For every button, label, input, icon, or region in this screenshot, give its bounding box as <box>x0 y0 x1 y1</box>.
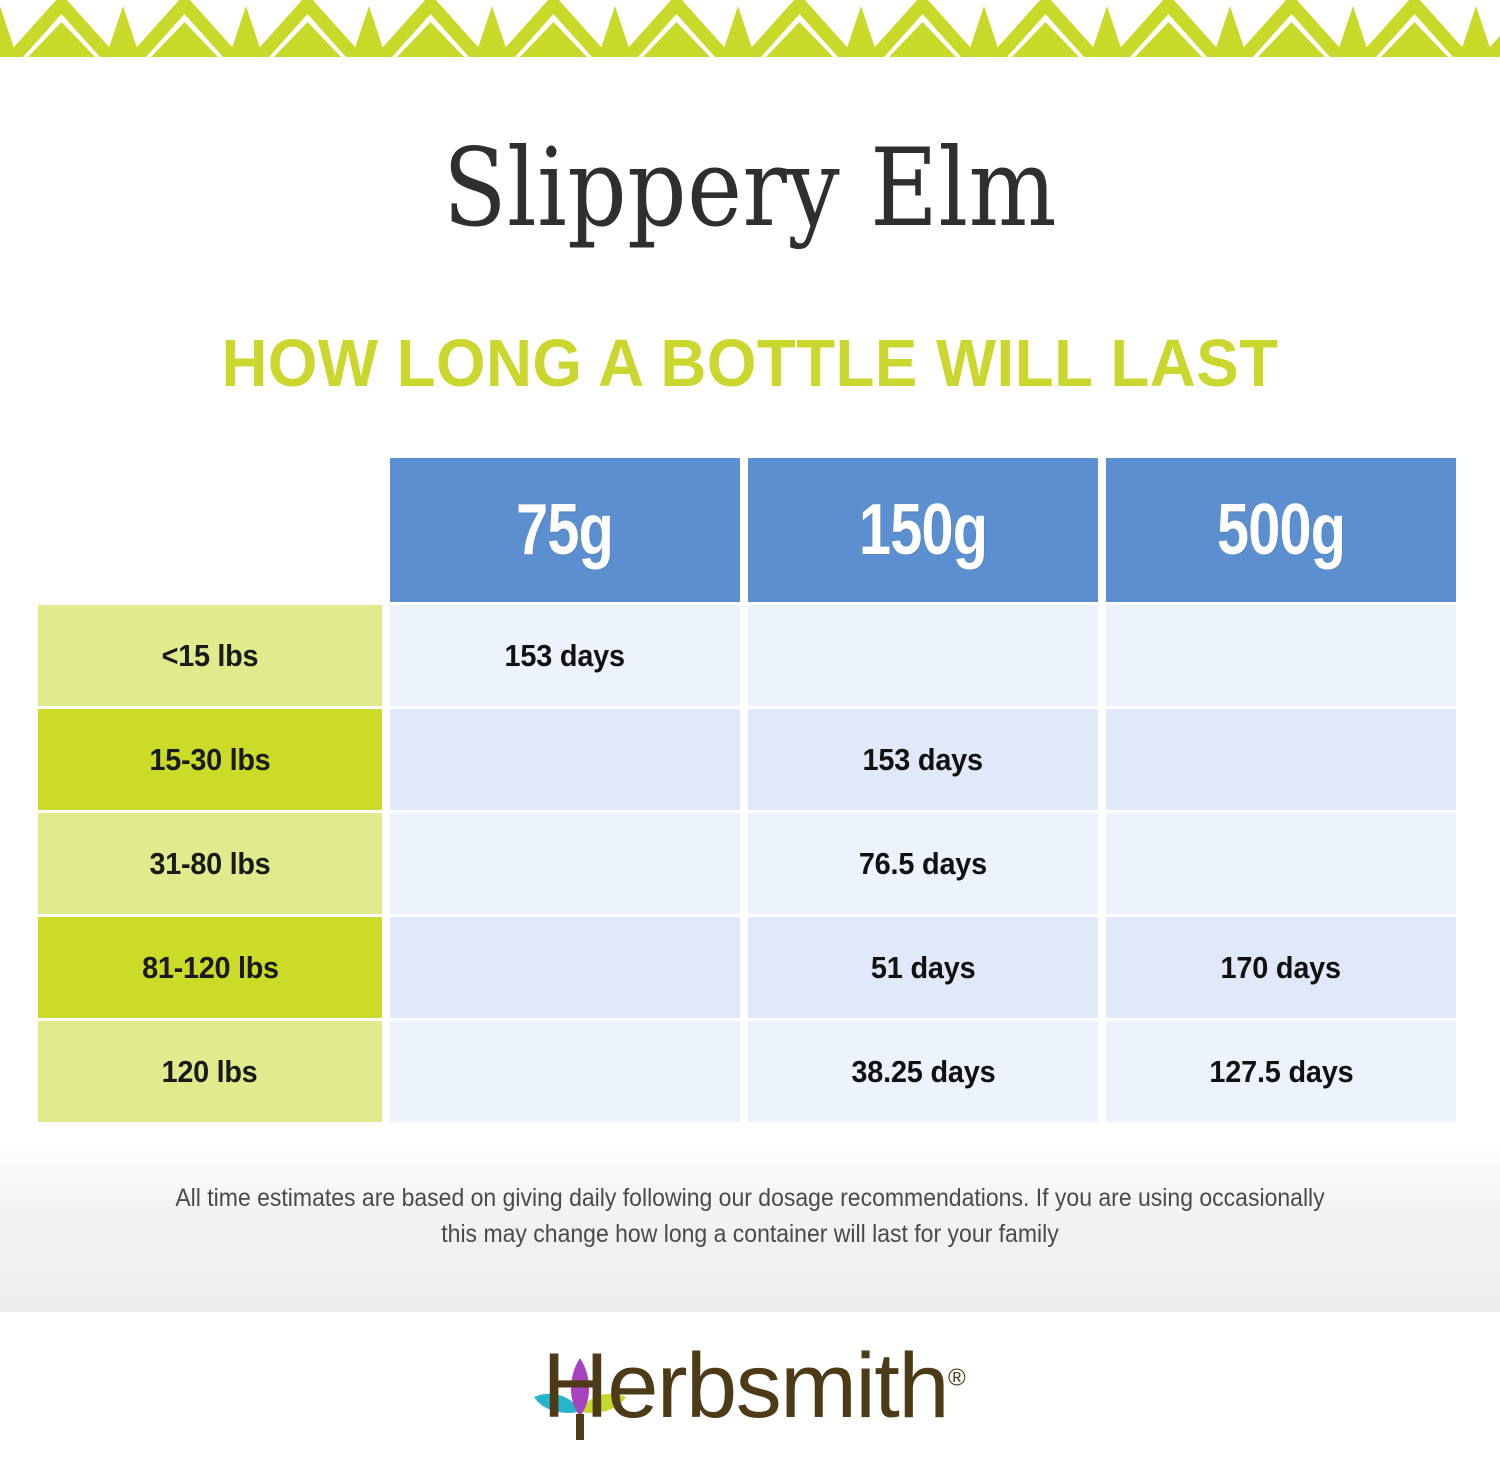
column-header-150g-label: 150g <box>859 489 987 571</box>
row-label: 15-30 lbs <box>150 742 271 778</box>
footnote-text: All time estimates are based on giving d… <box>161 1180 1339 1253</box>
table-row: 81-120 lbs 51 days 170 days <box>38 917 1456 1018</box>
column-header-75g: 75g <box>390 458 740 602</box>
chevron-pattern-band <box>0 0 1500 58</box>
chevron-pattern-icon <box>0 0 1500 58</box>
cell-value: 38.25 days <box>851 1054 995 1090</box>
row-label: <15 lbs <box>162 638 259 674</box>
cell-500g <box>1106 813 1456 914</box>
logo-word-text: Herbsmith <box>542 1335 948 1437</box>
column-header-500g: 500g <box>1106 458 1456 602</box>
cell-150g: 153 days <box>748 709 1098 810</box>
headline: HOW LONG A BOTTLE WILL LAST <box>38 325 1463 402</box>
table-header-row: 75g 150g 500g <box>38 458 1456 602</box>
header-corner-cell <box>38 458 382 602</box>
cell-150g: 38.25 days <box>748 1021 1098 1122</box>
row-label-cell: 81-120 lbs <box>38 917 382 1018</box>
row-label: 81-120 lbs <box>142 950 279 986</box>
cell-value: 51 days <box>871 950 975 986</box>
cell-500g <box>1106 605 1456 706</box>
row-label: 120 lbs <box>162 1054 258 1090</box>
cell-150g: 51 days <box>748 917 1098 1018</box>
cell-75g <box>390 813 740 914</box>
cell-75g <box>390 1021 740 1122</box>
registered-trademark-icon: ® <box>948 1364 966 1391</box>
cell-75g <box>390 709 740 810</box>
cell-500g: 170 days <box>1106 917 1456 1018</box>
table-row: <15 lbs 153 days <box>38 605 1456 706</box>
cell-75g <box>390 917 740 1018</box>
row-label-cell: 15-30 lbs <box>38 709 382 810</box>
cell-150g <box>748 605 1098 706</box>
table-row: 31-80 lbs 76.5 days <box>38 813 1456 914</box>
logo-wordmark: Herbsmith® <box>534 1340 965 1432</box>
cell-500g: 127.5 days <box>1106 1021 1456 1122</box>
row-label-cell: <15 lbs <box>38 605 382 706</box>
cell-value: 127.5 days <box>1209 1054 1353 1090</box>
cell-75g: 153 days <box>390 605 740 706</box>
table-row: 15-30 lbs 153 days <box>38 709 1456 810</box>
cell-500g <box>1106 709 1456 810</box>
row-label-cell: 31-80 lbs <box>38 813 382 914</box>
cell-150g: 76.5 days <box>748 813 1098 914</box>
column-header-75g-label: 75g <box>517 489 614 571</box>
cell-value: 76.5 days <box>859 846 987 882</box>
brand-logo: Herbsmith® <box>0 1340 1500 1432</box>
infographic-page: Slippery Elm HOW LONG A BOTTLE WILL LAST… <box>0 0 1500 1457</box>
row-label: 31-80 lbs <box>150 846 271 882</box>
column-header-150g: 150g <box>748 458 1098 602</box>
dosage-duration-table: 75g 150g 500g <15 lbs 153 days 15-30 lbs… <box>38 458 1456 1115</box>
row-label-cell: 120 lbs <box>38 1021 382 1122</box>
cell-value: 153 days <box>505 638 625 674</box>
cell-value: 153 days <box>863 742 983 778</box>
page-title: Slippery Elm <box>105 132 1395 245</box>
column-header-500g-label: 500g <box>1217 489 1345 571</box>
cell-value: 170 days <box>1221 950 1341 986</box>
table-row: 120 lbs 38.25 days 127.5 days <box>38 1021 1456 1122</box>
